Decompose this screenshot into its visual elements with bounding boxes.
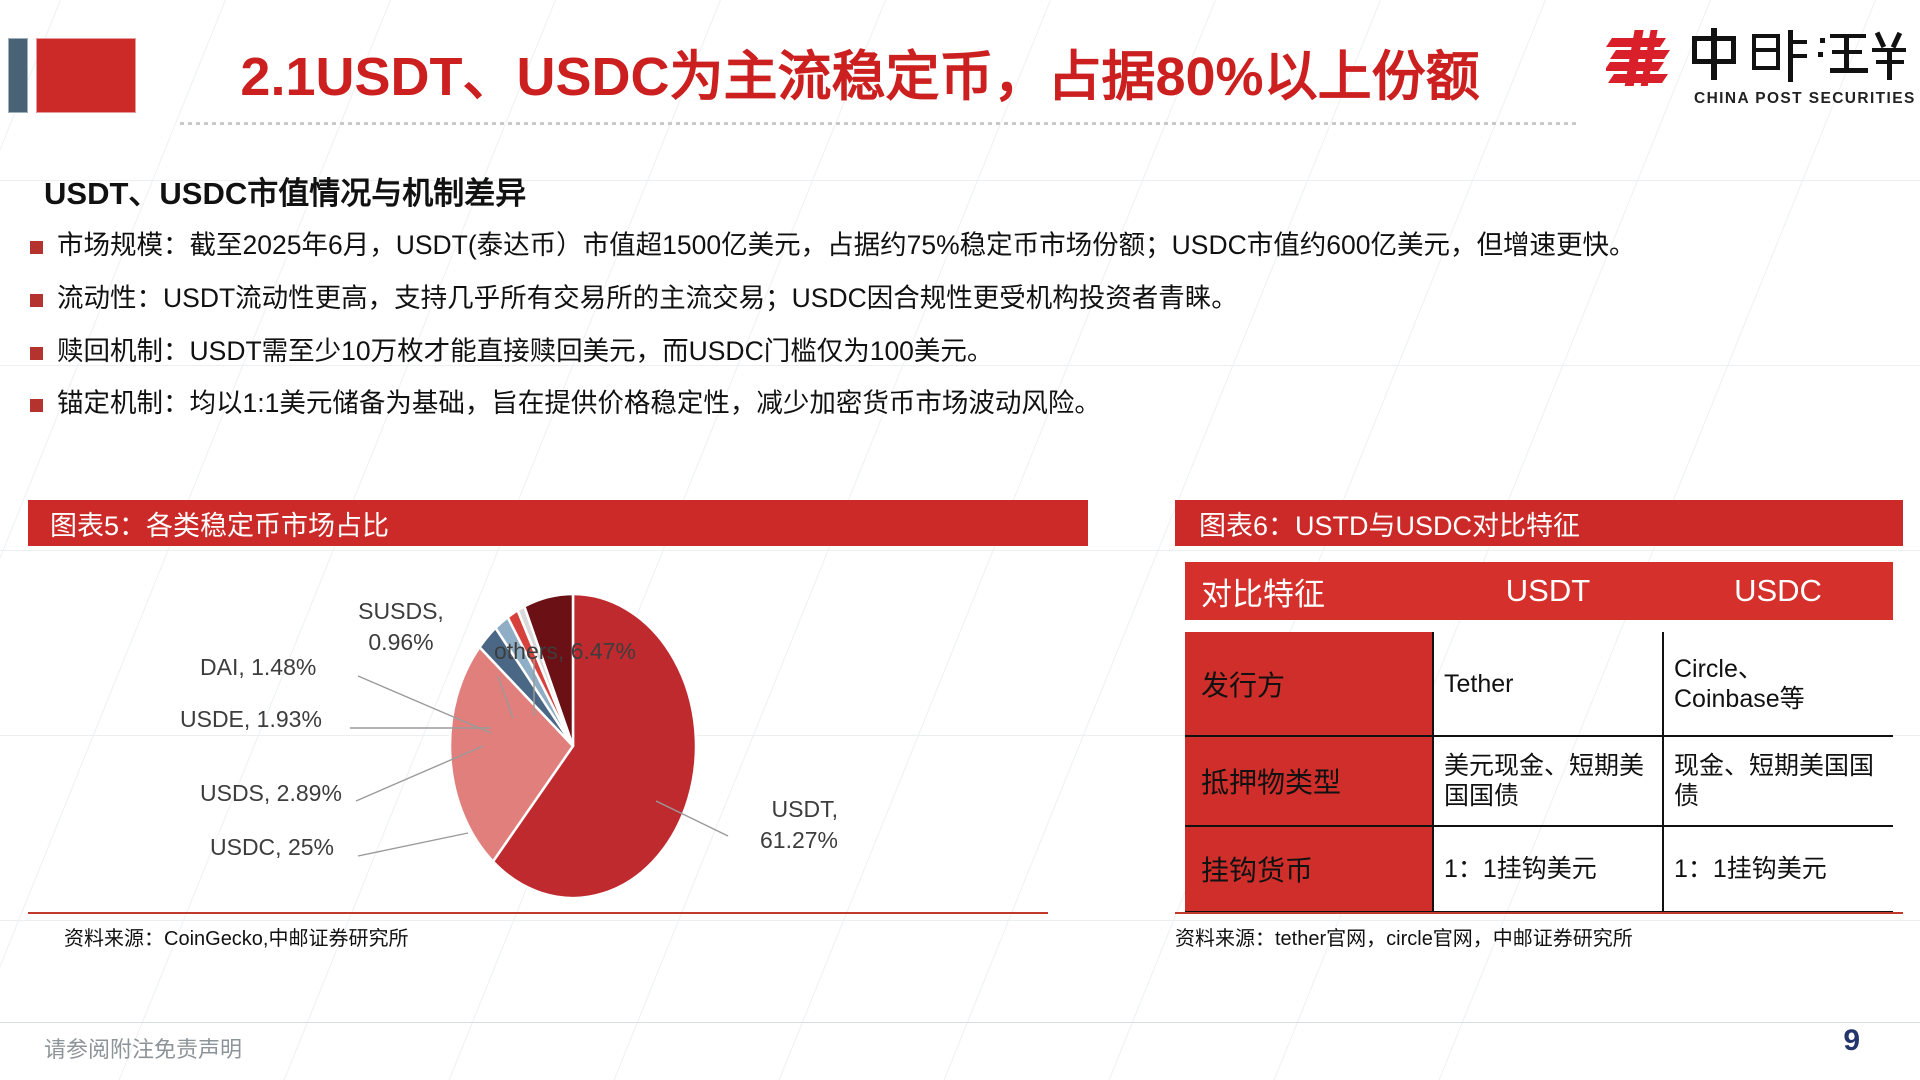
table-row: 发行方 Tether Circle、 Coinbase等 xyxy=(1185,632,1893,736)
table-cell-usdt: 美元现金、短期美国国债 xyxy=(1433,736,1663,826)
pie-chart: SUSDS, 0.96% DAI, 1.48% USDE, 1.93% USDS… xyxy=(28,546,1088,906)
table-header-row: 对比特征 USDT USDC xyxy=(1185,562,1893,620)
table-row-label: 挂钩货币 xyxy=(1185,826,1433,912)
source-divider xyxy=(1175,912,1903,914)
list-item: 赎回机制：USDT需至少10万枚才能直接赎回美元，而USDC门槛仅为100美元。 xyxy=(30,334,1900,370)
source-divider xyxy=(28,912,1048,914)
bullet-square-icon xyxy=(30,399,43,412)
table-cell-usdc: Circle、 Coinbase等 xyxy=(1663,632,1893,736)
table-cell-usdt: 1：1挂钩美元 xyxy=(1433,826,1663,912)
bullet-square-icon xyxy=(30,347,43,360)
table-caption: 图表6：USTD与USDC对比特征 xyxy=(1175,500,1903,546)
table-header-cell: 对比特征 xyxy=(1185,562,1433,620)
chart-source: 资料来源：CoinGecko,中邮证券研究所 xyxy=(64,922,409,951)
chart-panel-left: 图表5：各类稳定币市场占比 SUSDS, 0.96% DAI, 1.48% US… xyxy=(28,500,1088,950)
list-item: 市场规模：截至2025年6月，USDT(泰达币）市值超1500亿美元，占据约75… xyxy=(30,228,1900,264)
pie-label-usdt: USDT, 61.27% xyxy=(728,794,838,856)
table-source: 资料来源：tether官网，circle官网，中邮证券研究所 xyxy=(1175,922,1633,951)
table-spacer xyxy=(1185,620,1893,632)
table-cell-usdt: Tether xyxy=(1433,632,1663,736)
bullet-text: 市场规模：截至2025年6月，USDT(泰达币）市值超1500亿美元，占据约75… xyxy=(57,228,1635,264)
table-header-cell: USDC xyxy=(1663,562,1893,620)
bullet-square-icon xyxy=(30,241,43,254)
comparison-table: 对比特征 USDT USDC 发行方 Tether Circle、 Coinba… xyxy=(1185,562,1893,913)
table-header-cell: USDT xyxy=(1433,562,1663,620)
list-item: 流动性：USDT流动性更高，支持几乎所有交易所的主流交易；USDC因合规性更受机… xyxy=(30,281,1900,317)
table-row: 抵押物类型 美元现金、短期美国国债 现金、短期美国国债 xyxy=(1185,736,1893,826)
bullet-text: 锚定机制：均以1:1美元储备为基础，旨在提供价格稳定性，减少加密货币市场波动风险… xyxy=(57,386,1101,422)
bullet-list: 市场规模：截至2025年6月，USDT(泰达币）市值超1500亿美元，占据约75… xyxy=(30,228,1900,439)
pie-label-susds: SUSDS, 0.96% xyxy=(346,596,456,658)
pie-label-usdc: USDC, 25% xyxy=(210,832,334,863)
footer-disclaimer: 请参阅附注免责声明 xyxy=(44,1032,242,1064)
pie-label-usds: USDS, 2.89% xyxy=(200,778,342,809)
logo-english-text: CHINA POST SECURITIES xyxy=(1694,90,1916,108)
page-title: 2.1USDT、USDC为主流稳定币，占据80%以上份额 xyxy=(150,30,1570,112)
bullet-square-icon xyxy=(30,294,43,307)
pie-label-usde: USDE, 1.93% xyxy=(180,704,322,735)
table-row-label: 抵押物类型 xyxy=(1185,736,1433,826)
header-accent-block-red xyxy=(36,38,136,113)
header-divider-dotted xyxy=(180,122,1580,125)
page-number: 9 xyxy=(1843,1024,1860,1058)
china-post-securities-logo: CHINA POST SECURITIES xyxy=(1606,22,1906,114)
chart-caption: 图表5：各类稳定币市场占比 xyxy=(28,500,1088,546)
table-row: 挂钩货币 1：1挂钩美元 1：1挂钩美元 xyxy=(1185,826,1893,912)
table-cell-usdc: 1：1挂钩美元 xyxy=(1663,826,1893,912)
table-panel-right: 图表6：USTD与USDC对比特征 对比特征 USDT USDC 发行方 Tet… xyxy=(1175,500,1903,950)
table-cell-usdc: 现金、短期美国国债 xyxy=(1663,736,1893,826)
bullet-text: 赎回机制：USDT需至少10万枚才能直接赎回美元，而USDC门槛仅为100美元。 xyxy=(57,334,993,370)
section-subtitle: USDT、USDC市值情况与机制差异 xyxy=(44,168,526,213)
pie-label-dai: DAI, 1.48% xyxy=(200,652,316,683)
list-item: 锚定机制：均以1:1美元储备为基础，旨在提供价格稳定性，减少加密货币市场波动风险… xyxy=(30,386,1900,422)
bullet-text: 流动性：USDT流动性更高，支持几乎所有交易所的主流交易；USDC因合规性更受机… xyxy=(57,281,1238,317)
pie-label-others: others, 6.47% xyxy=(494,636,636,667)
footer-divider xyxy=(0,1022,1920,1023)
header-accent-bar-blue xyxy=(8,38,28,113)
table-row-label: 发行方 xyxy=(1185,632,1433,736)
